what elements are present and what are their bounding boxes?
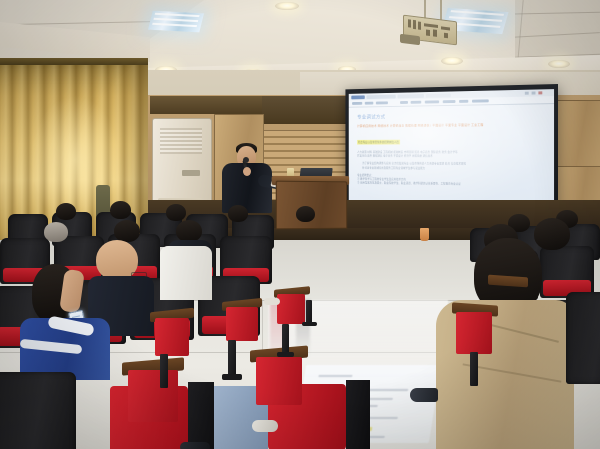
browser-tab[interactable] [426, 93, 451, 97]
seat-foot [277, 352, 294, 357]
toolbar-icon[interactable] [472, 99, 489, 102]
seat-leg [306, 300, 312, 324]
window-close-icon[interactable] [538, 91, 542, 94]
attendee-head [114, 220, 140, 242]
ceiling-panel-light [148, 11, 204, 33]
presenter-hand [243, 167, 251, 176]
seat-leg [228, 340, 236, 376]
seat-armrest-panel [456, 312, 492, 354]
slide-highlight-line: 符合专业以及学历条件的招聘岗位人员 [357, 139, 400, 144]
curtain-rail [0, 58, 148, 65]
seat-leg [160, 354, 168, 388]
lectern [276, 181, 347, 230]
seat-foot [302, 322, 317, 326]
projection-screen[interactable]: 专业调试方式 计算机应用技术 网络技术 计算机信息 数据处理 网络通信 | 平面… [345, 84, 558, 218]
toolbar-icon[interactable] [376, 101, 388, 104]
attendee-head [534, 218, 570, 250]
downlight-icon [548, 60, 570, 68]
shoe [180, 442, 210, 449]
slide-body-line: 针对本专业领域应用及服务工程专业领域学生参与就业能力 [357, 166, 543, 171]
attendee-head [44, 222, 68, 242]
seat-armrest-panel [155, 318, 189, 356]
attendee-head [296, 206, 315, 222]
toolbar-icon[interactable] [411, 101, 422, 104]
toolbar-icon[interactable] [352, 102, 362, 105]
seat-backrest-front [188, 382, 214, 449]
seat-armrest-panel [226, 307, 258, 341]
auditorium-seat[interactable] [0, 372, 76, 449]
seat-leg [470, 352, 478, 386]
attendee-head [228, 205, 248, 222]
seat-foot [222, 374, 242, 380]
slide-orange-line: 计算机应用技术 网络技术 计算机信息 数据处理 网络通信 | 平面设计 平面专业… [357, 121, 543, 128]
shoe [410, 388, 438, 402]
browser-tab[interactable] [366, 94, 395, 98]
attendee-torso [160, 246, 212, 300]
toolbar-icon[interactable] [459, 100, 468, 103]
toolbar-icon[interactable] [425, 100, 439, 103]
toolbar-icon[interactable] [400, 101, 408, 104]
slide-heading: 专业调试方式 [357, 111, 543, 120]
shoe [252, 420, 278, 432]
lecture-hall-photo: 专业调试方式 计算机应用技术 网络技术 计算机信息 数据处理 网络通信 | 平面… [0, 0, 600, 449]
seat-backrest-front [346, 380, 370, 449]
attendee-head [166, 204, 186, 221]
paper-cup [420, 228, 429, 241]
auditorium-seat[interactable] [540, 246, 594, 298]
slide-content: 专业调试方式 计算机应用技术 网络技术 计算机信息 数据处理 网络通信 | 平面… [357, 111, 543, 188]
window-minimize-icon[interactable] [525, 92, 529, 95]
browser-tab[interactable] [351, 95, 365, 99]
window-maximize-icon[interactable] [532, 92, 536, 95]
seat-armrest-panel [128, 370, 178, 422]
toolbar-icon[interactable] [365, 102, 374, 105]
attendee-head [56, 203, 76, 220]
screen-surface: 专业调试方式 计算机应用技术 网络技术 计算机信息 数据处理 网络通信 | 平面… [349, 89, 554, 213]
seat-leg [282, 324, 289, 354]
ac-badge [182, 170, 200, 176]
shoe [264, 298, 280, 305]
wood-wall-panel [556, 100, 600, 168]
wall-header-beam [150, 96, 262, 114]
toolbar-icon[interactable] [443, 100, 456, 103]
projector-mount-rod [440, 0, 442, 20]
downlight-icon [275, 2, 299, 10]
attendee-head [176, 220, 202, 242]
auditorium-seat[interactable] [566, 292, 600, 384]
attendee-head [110, 201, 131, 219]
browser-tab[interactable] [397, 94, 423, 98]
seat-armrest-panel [256, 357, 302, 405]
seat-armrest-panel [277, 294, 305, 324]
downlight-icon [441, 57, 463, 65]
slide-body-line: 开发方向 软件 数据通信 电子商务 平面设计 经济学 用报系统 通信技术 [357, 155, 543, 159]
ac-grille [160, 128, 202, 154]
microphone-head-icon [243, 157, 249, 163]
